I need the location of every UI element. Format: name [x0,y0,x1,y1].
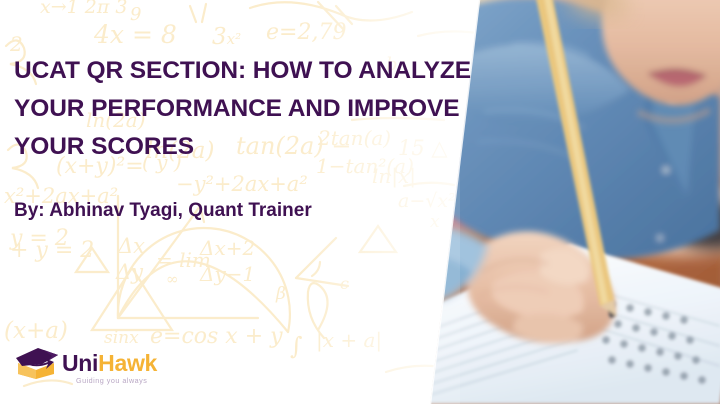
logo-tagline: Guiding you always [76,376,147,385]
logo-word-uni: Uni [62,350,98,376]
logo-wordmark: UniHawk [62,350,157,376]
unihawk-logo[interactable]: UniHawk Guiding you always [14,346,184,394]
byline: By: Abhinav Tyagi, Quant Trainer [14,198,444,224]
graduation-cap-arrow-icon [14,346,60,380]
logo-word-hawk: Hawk [98,350,157,376]
presentation-slide: x→1 2π 3 4x = 8 3x² e=2,79 tan(2a) − ln(… [0,0,720,404]
page-title: UCAT QR Section: How to Analyze Your Per… [14,52,474,166]
